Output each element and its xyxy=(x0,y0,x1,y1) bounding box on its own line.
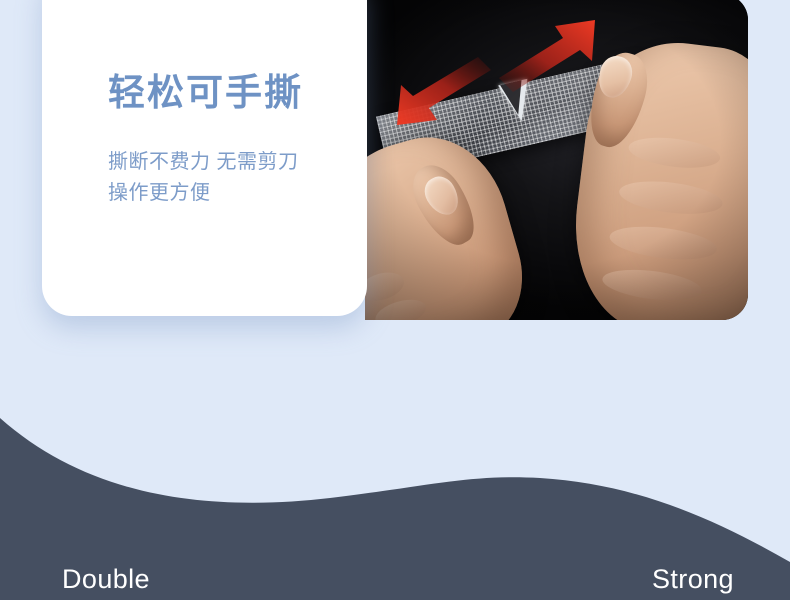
feature-card-subtitle-line-2: 操作更方便 xyxy=(108,178,299,209)
photo-vignette xyxy=(365,0,748,320)
product-detail-page: 轻松可手撕 撕断不费力 无需剪刀 操作更方便 Double Strong xyxy=(0,0,790,600)
footer-word-strong: Strong xyxy=(652,566,734,593)
feature-card-title: 轻松可手撕 xyxy=(108,74,303,111)
footer-word-double: Double xyxy=(62,566,150,593)
feature-card-subtitle: 撕断不费力 无需剪刀 操作更方便 xyxy=(108,147,299,209)
product-photo xyxy=(365,0,748,320)
feature-card-subtitle-line-1: 撕断不费力 无需剪刀 xyxy=(108,147,299,178)
feature-card: 轻松可手撕 撕断不费力 无需剪刀 操作更方便 xyxy=(42,0,367,316)
